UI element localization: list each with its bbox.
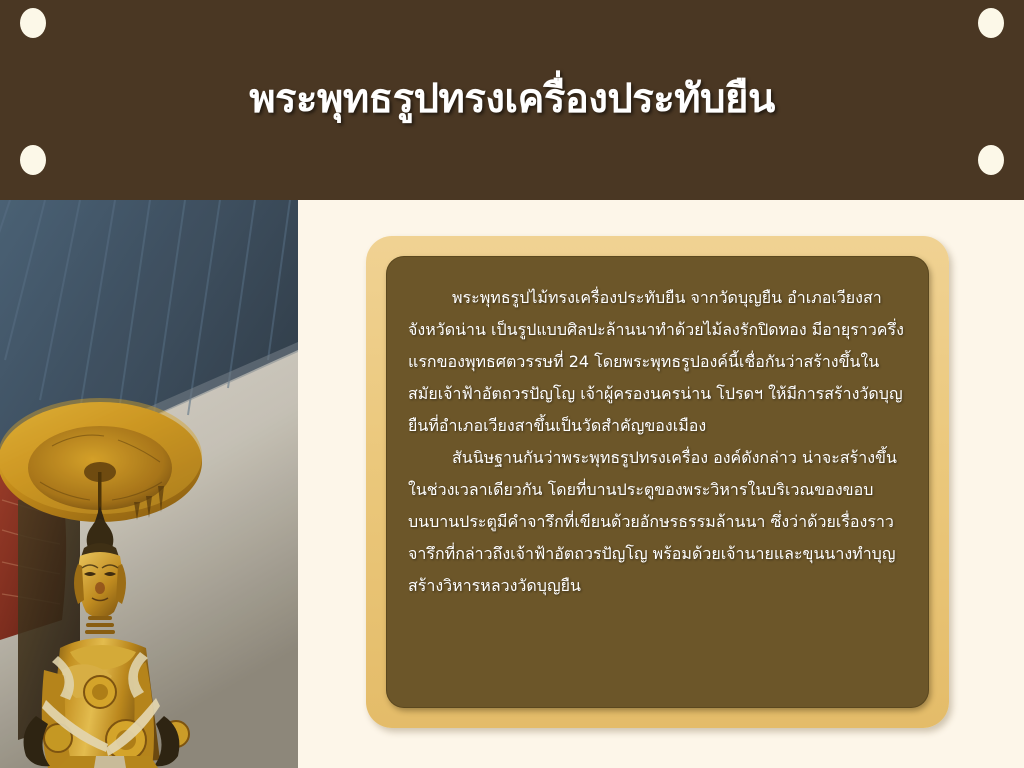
decorative-dot-bottom-right bbox=[978, 145, 1004, 175]
content-card-panel: พระพุทธรูปไม้ทรงเครื่องประทับยืน จากวัดบ… bbox=[386, 256, 929, 708]
decorative-dot-bottom-left bbox=[20, 145, 46, 175]
presentation-slide: พระพุทธรูปทรงเครื่องประทับยืน bbox=[0, 0, 1024, 768]
decorative-dot-top-left bbox=[20, 8, 46, 38]
decorative-dot-top-right bbox=[978, 8, 1004, 38]
paragraph-2: สันนิษฐานกันว่าพระพุทธรูปทรงเครื่อง องค์… bbox=[408, 442, 908, 602]
paragraph-1: พระพุทธรูปไม้ทรงเครื่องประทับยืน จากวัดบ… bbox=[408, 282, 908, 442]
content-card-frame: พระพุทธรูปไม้ทรงเครื่องประทับยืน จากวัดบ… bbox=[366, 236, 949, 728]
slide-header-band: พระพุทธรูปทรงเครื่องประทับยืน bbox=[0, 0, 1024, 200]
slide-body-text: พระพุทธรูปไม้ทรงเครื่องประทับยืน จากวัดบ… bbox=[408, 282, 908, 602]
buddha-statue-photo bbox=[0, 200, 298, 768]
slide-title: พระพุทธรูปทรงเครื่องประทับยืน bbox=[0, 66, 1024, 130]
